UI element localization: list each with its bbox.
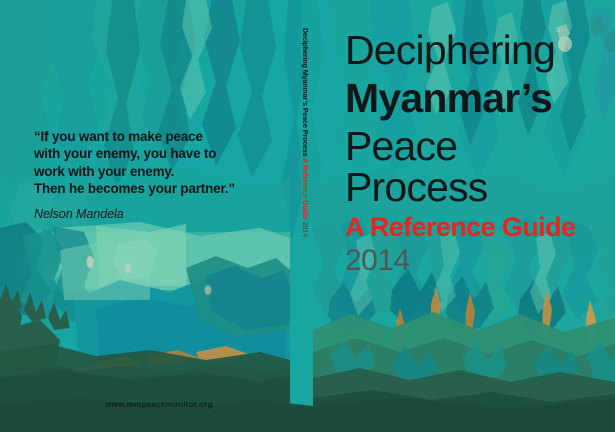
quote-line-1: “If you want to make peace	[34, 128, 274, 145]
quote-attribution: Nelson Mandela	[34, 207, 274, 221]
quote-line-4: Then he becomes your partner.”	[34, 180, 274, 197]
back-cover: “If you want to make peace with your ene…	[0, 0, 290, 432]
quote-line-2: with your enemy, you have to	[34, 145, 274, 162]
book-spine: Deciphering Myanmar’s Peace Process A Re…	[297, 0, 313, 432]
quote-line-3: work with your enemy.	[34, 163, 274, 180]
book-cover: “If you want to make peace with your ene…	[0, 0, 615, 432]
title-line-2: Myanmar’s	[345, 78, 607, 119]
spine-title: Deciphering Myanmar’s Peace Process A Re…	[301, 28, 309, 237]
mandela-quote: “If you want to make peace with your ene…	[34, 128, 274, 221]
website-url[interactable]: www.mmpeacemonitor.org	[105, 400, 213, 409]
year: 2014	[345, 246, 607, 276]
spine-year: 2014	[301, 222, 309, 237]
spine-title-main: Deciphering Myanmar’s Peace Process	[301, 28, 309, 158]
front-cover: Deciphering Myanmar’s Peace Process A Re…	[313, 0, 615, 432]
title-block: Deciphering Myanmar’s Peace Process A Re…	[345, 30, 607, 276]
title-line-1: Deciphering	[345, 30, 607, 71]
title-line-3: Peace Process	[345, 126, 607, 208]
spine-subtitle: A Reference Guide	[301, 158, 309, 221]
subtitle: A Reference Guide	[345, 214, 607, 241]
